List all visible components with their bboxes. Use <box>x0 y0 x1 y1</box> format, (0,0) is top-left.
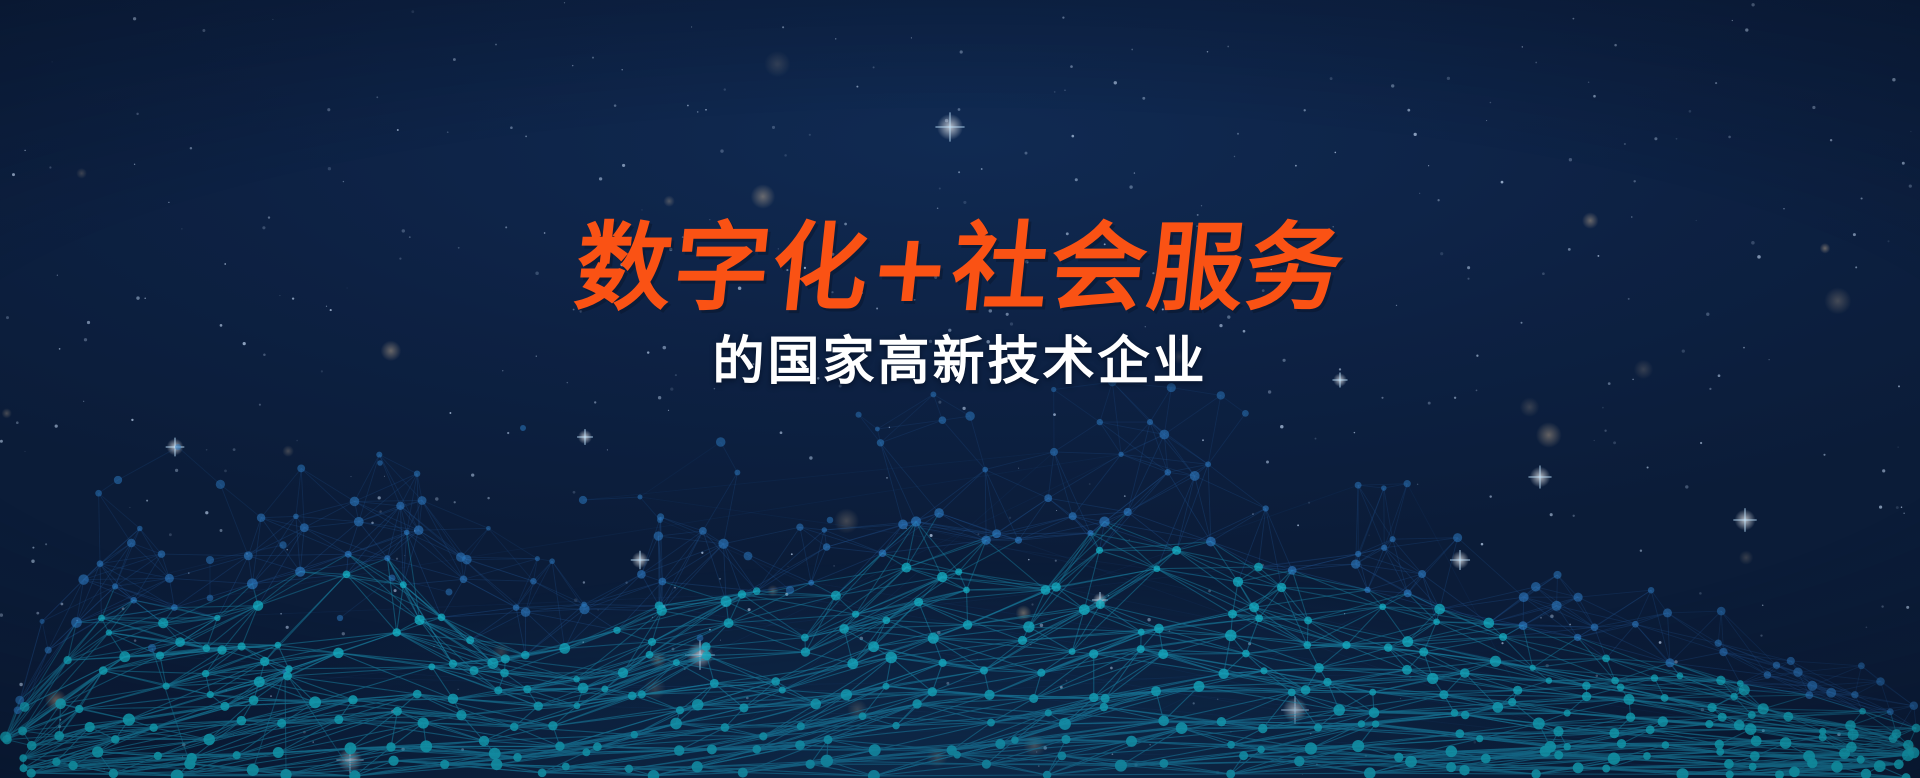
page-subtitle: 的国家高新技术企业 <box>0 333 1920 390</box>
hero-text-block: 数字化+社会服务 的国家高新技术企业 <box>0 218 1920 390</box>
hero-banner: 数字化+社会服务 的国家高新技术企业 <box>0 0 1920 778</box>
page-title: 数字化+社会服务 <box>570 218 1349 319</box>
